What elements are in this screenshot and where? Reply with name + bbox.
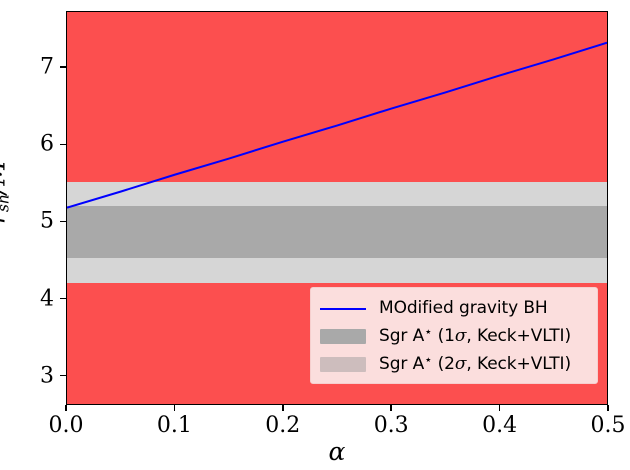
y-axis-title-sub: sh — [0, 194, 13, 212]
legend-2sigma-paren: (2 — [432, 355, 455, 375]
y-tick-mark — [60, 66, 66, 68]
x-tick-label: 0.5 — [591, 413, 626, 438]
legend-label-sgr-a-2sigma: Sgr A⋆ (2σ, Keck+VLTI) — [379, 353, 571, 374]
legend-1sigma-sigma: σ — [455, 327, 467, 347]
legend-label-modified-gravity: MOdified gravity BH — [379, 298, 548, 318]
legend-item-modified-gravity[interactable]: MOdified gravity BH — [320, 294, 588, 322]
x-tick-mark — [499, 405, 501, 411]
y-axis-title-rest: /M — [0, 160, 10, 194]
legend-line-swatch-icon — [320, 301, 366, 316]
y-tick-label: 4 — [0, 286, 54, 311]
legend-item-sgr-a-2sigma[interactable]: Sgr A⋆ (2σ, Keck+VLTI) — [320, 350, 588, 378]
x-tick-mark — [390, 405, 392, 411]
legend-2sigma-rest: , Keck+VLTI) — [466, 355, 571, 375]
legend-item-sgr-a-1sigma[interactable]: Sgr A⋆ (1σ, Keck+VLTI) — [320, 322, 588, 350]
x-tick-mark — [282, 405, 284, 411]
legend-patch-swatch-2sigma-icon — [320, 357, 366, 372]
x-tick-label: 0.3 — [374, 413, 409, 438]
legend-2sigma-sigma: σ — [455, 355, 467, 375]
y-tick-mark — [60, 375, 66, 377]
y-tick-label: 3 — [0, 363, 54, 388]
legend-patch-swatch-1sigma-icon — [320, 329, 366, 344]
y-tick-mark — [60, 144, 66, 146]
legend-box: MOdified gravity BH Sgr A⋆ (1σ, Keck+VLT… — [310, 287, 598, 384]
y-tick-label: 6 — [0, 132, 54, 157]
y-axis-title-main: r — [0, 212, 10, 224]
x-tick-mark — [174, 405, 176, 411]
legend-1sigma-paren: (1 — [432, 327, 455, 347]
x-tick-label: 0.1 — [157, 413, 192, 438]
x-tick-label: 0.0 — [49, 413, 84, 438]
y-tick-label: 7 — [0, 55, 54, 80]
figure-canvas: 34567 0.00.10.20.30.40.5 rsh/M α MOdifie… — [0, 0, 630, 470]
legend-1sigma-prefix: Sgr A — [379, 327, 424, 347]
legend-1sigma-rest: , Keck+VLTI) — [466, 327, 571, 347]
x-tick-label: 0.4 — [482, 413, 517, 438]
x-tick-mark — [607, 405, 609, 411]
x-tick-mark — [65, 405, 67, 411]
y-tick-mark — [60, 298, 66, 300]
x-tick-label: 0.2 — [265, 413, 300, 438]
y-axis-title: rsh/M — [0, 160, 13, 256]
x-axis-title: α — [329, 437, 346, 466]
legend-2sigma-prefix: Sgr A — [379, 355, 424, 375]
legend-label-sgr-a-1sigma: Sgr A⋆ (1σ, Keck+VLTI) — [379, 325, 571, 346]
x-axis-title-label: α — [329, 437, 346, 466]
y-tick-mark — [60, 221, 66, 223]
